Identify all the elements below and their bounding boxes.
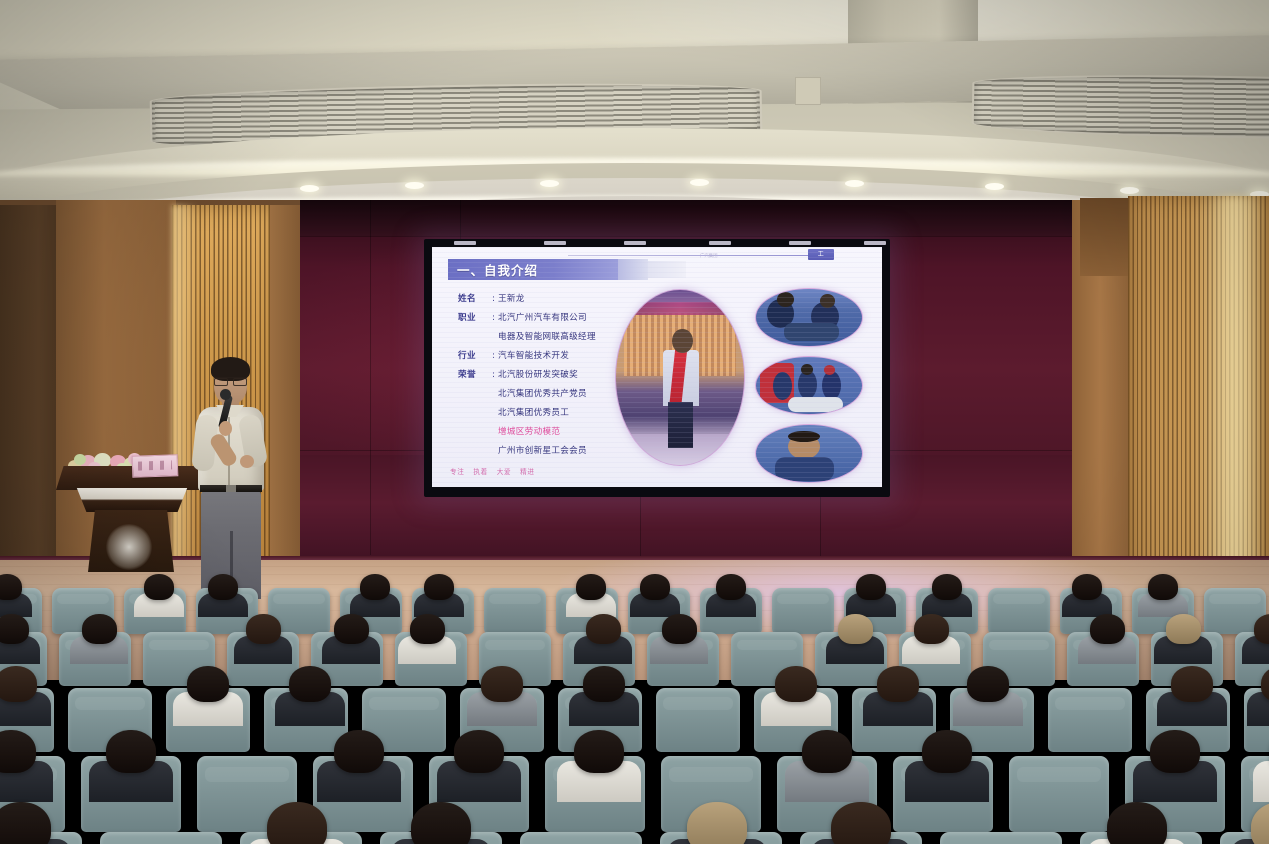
- slide-info-row: 职业:北汽广州汽车有限公司: [458, 314, 638, 323]
- slide-title: 一、自我介绍: [448, 260, 538, 279]
- auditorium-photo: 一、自我介绍 姓名:王新龙职业:北汽广州汽车有限公司 电器及智能网联高级经理行业…: [0, 0, 1269, 844]
- backdrop-seam: [370, 200, 371, 555]
- audience-member-head: [334, 614, 369, 644]
- audience-member-head: [775, 666, 817, 702]
- microphone-capsule: [220, 389, 231, 400]
- slide-title-band: 一、自我介绍: [448, 259, 618, 280]
- audience-member-head: [662, 614, 697, 644]
- wall-left-dark-panel: [0, 205, 64, 585]
- slide-info-label: 荣誉: [458, 371, 492, 380]
- audience-member-head: [1150, 730, 1200, 773]
- audience-member-head: [187, 666, 229, 702]
- audience-member-head: [0, 666, 37, 702]
- speaker-hand-gesture: [240, 455, 254, 468]
- photo-banner: [631, 302, 728, 314]
- slide-info-label: 行业: [458, 352, 492, 361]
- audience-member-head: [82, 614, 117, 644]
- slide-info-value: 北汽广州汽车有限公司: [498, 314, 587, 323]
- slide-info-value: 北汽集团优秀共产党员: [498, 390, 587, 399]
- bezel-reflection: [454, 241, 476, 245]
- audience-member-head: [640, 574, 670, 600]
- audience-member-head: [838, 614, 873, 644]
- slide-info-row: 姓名:王新龙: [458, 295, 638, 304]
- audience-member-shoulders: [1253, 761, 1269, 802]
- auditorium-seat: [940, 832, 1062, 844]
- audience-member-head: [586, 614, 621, 644]
- projection-screen: 一、自我介绍 姓名:王新龙职业:北汽广州汽车有限公司 电器及智能网联高级经理行业…: [432, 247, 882, 487]
- bezel-reflection: [544, 241, 566, 245]
- slide-info-label: 职业: [458, 314, 492, 323]
- auditorium-seat: [772, 588, 834, 634]
- downlight-icon: [985, 183, 1004, 190]
- slide-footer-slogan: 大爱: [497, 466, 511, 476]
- slide-info-value: 北汽集团优秀员工: [498, 409, 569, 418]
- audience-member-head: [831, 802, 891, 844]
- audience-member-head: [106, 730, 156, 773]
- slide-footer: 专注执着大爱精进: [450, 463, 864, 479]
- audience-member-head: [922, 730, 972, 773]
- audience-member-head: [246, 614, 281, 644]
- audience-member-head: [574, 730, 624, 773]
- slide-info-row: 行业:汽车智能技术开发: [458, 352, 638, 361]
- vent-duct-box: [795, 77, 821, 105]
- auditorium-seat: [656, 688, 740, 752]
- audience-member-head: [267, 802, 327, 844]
- auditorium-seat: [100, 832, 222, 844]
- downlight-icon: [1120, 187, 1139, 194]
- audience-member-head: [877, 666, 919, 702]
- slide-photo-thumb-1: [755, 288, 863, 347]
- slide-info-value: 广州市创新星工会会员: [498, 447, 587, 456]
- audience-member-head: [334, 730, 384, 773]
- slide-info-row: 广州市创新星工会会员: [458, 447, 638, 456]
- podium-body: [72, 488, 192, 512]
- audience-member-head: [424, 574, 454, 600]
- slide-progress-track: [568, 255, 830, 257]
- bezel-reflection: [789, 241, 811, 245]
- slide-title-accent-2: [648, 261, 686, 278]
- speaker-hand-holding-mic: [219, 421, 232, 436]
- audience-member-head: [360, 574, 390, 600]
- slide-info-value: 北汽股份研发突破奖: [498, 371, 578, 380]
- slide-footer-slogans: 专注执着大爱精进: [450, 466, 535, 476]
- audience-member-head: [967, 666, 1009, 702]
- audience-member-head: [1166, 614, 1201, 644]
- audience-member-head: [289, 666, 331, 702]
- auditorium-seat: [1009, 756, 1109, 832]
- audience-member-head: [481, 666, 523, 702]
- audience-member-head: [0, 574, 22, 600]
- audience-seating: [0, 560, 1269, 844]
- podium-nameplate: [132, 454, 179, 478]
- audience-member-head: [687, 802, 747, 844]
- slide-info-row: 北汽集团优秀共产党员: [458, 390, 638, 399]
- audience-member-head: [583, 666, 625, 702]
- auditorium-seat: [484, 588, 546, 634]
- wall-right-slat-glow: [1206, 196, 1260, 600]
- audience-member-head: [716, 574, 746, 600]
- projection-screen-bezel: 一、自我介绍 姓名:王新龙职业:北汽广州汽车有限公司 电器及智能网联高级经理行业…: [424, 239, 890, 497]
- slide-footer-slogan: 精进: [520, 466, 534, 476]
- audience-member-head: [410, 614, 445, 644]
- slide-info-row: 增城区劳动模范: [458, 428, 638, 437]
- audience-member-head: [914, 614, 949, 644]
- audience-member-head: [576, 574, 606, 600]
- photo-person-head: [672, 329, 692, 354]
- slide-photo-thumb-2: [755, 356, 863, 415]
- flower-icon: [74, 454, 86, 465]
- slide-footer-brand: 广汽集团: [700, 254, 718, 261]
- audience-member-head: [144, 574, 174, 600]
- slide-photo-main: [615, 289, 745, 466]
- speaker-belt-buckle: [226, 485, 236, 492]
- slide-info-value: 增城区劳动模范: [498, 428, 560, 437]
- audience-member-head: [1072, 574, 1102, 600]
- photo-person-legs: [668, 402, 692, 448]
- audience-member-head: [1107, 802, 1167, 844]
- downlight-icon: [300, 185, 319, 192]
- slide-info-row: 电器及智能网联高级经理: [458, 333, 638, 342]
- slide-info-row: 北汽集团优秀员工: [458, 409, 638, 418]
- slide-title-accent-1: [618, 259, 648, 280]
- slide-footer-slogan: 专注: [450, 466, 464, 476]
- slide-info-row: 荣誉:北汽股份研发突破奖: [458, 371, 638, 380]
- downlight-icon: [690, 179, 709, 186]
- audience-member-head: [932, 574, 962, 600]
- audience-member-head: [856, 574, 886, 600]
- slide-info-value: 王新龙: [498, 295, 525, 304]
- slide-info-value: 汽车智能技术开发: [498, 352, 569, 361]
- podium-nameplate-text: [138, 460, 172, 470]
- bezel-reflection: [864, 241, 886, 245]
- auditorium-seat: [988, 588, 1050, 634]
- downlight-icon: [405, 182, 424, 189]
- audience-member-head: [1171, 666, 1213, 702]
- audience-member-head: [0, 614, 29, 644]
- slide-info-label: 姓名: [458, 295, 492, 304]
- audience-member-head: [1090, 614, 1125, 644]
- backdrop-seam: [300, 236, 1072, 237]
- slide-info-list: 姓名:王新龙职业:北汽广州汽车有限公司 电器及智能网联高级经理行业:汽车智能技术…: [458, 295, 638, 466]
- downlight-icon: [540, 180, 559, 187]
- auditorium-seat: [520, 832, 642, 844]
- audience-member-head: [454, 730, 504, 773]
- slide-progress-knob: 工: [808, 249, 834, 260]
- audience-member-head: [802, 730, 852, 773]
- audience-member-head: [208, 574, 238, 600]
- slide-info-value: 电器及智能网联高级经理: [498, 333, 596, 342]
- glasses-icon: [214, 377, 247, 384]
- audience-member-head: [1148, 574, 1178, 600]
- bezel-reflection: [709, 241, 731, 245]
- bezel-reflection: [624, 241, 646, 245]
- slide-footer-slogan: 执着: [473, 466, 487, 476]
- downlight-icon: [845, 180, 864, 187]
- audience-member-head: [411, 802, 471, 844]
- auditorium-seat: [1048, 688, 1132, 752]
- slide-progress-label: 工: [808, 249, 834, 260]
